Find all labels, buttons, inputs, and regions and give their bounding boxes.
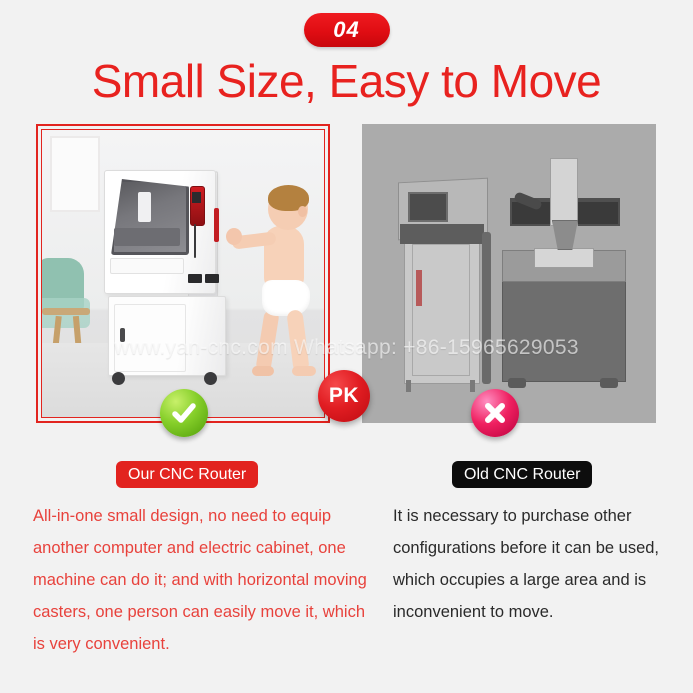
console-keypad <box>400 224 484 244</box>
mill-spindle-head <box>552 220 578 250</box>
left-product-photo <box>42 130 324 417</box>
machine-caster <box>112 372 125 385</box>
cable-conduit <box>482 232 491 384</box>
our-router-tag: Our CNC Router <box>116 461 258 488</box>
page-title: Small Size, Easy to Move <box>92 57 602 105</box>
versus-pk-badge: PK <box>318 370 370 422</box>
step-number-badge: 04 <box>304 13 390 47</box>
right-product-panel <box>362 124 656 423</box>
our-router-description: All-in-one small design, no need to equi… <box>33 500 373 660</box>
workpiece <box>534 248 594 268</box>
machine-red-accent-strip <box>214 208 219 242</box>
cross-icon <box>471 389 519 437</box>
cabinet-handle <box>120 328 125 342</box>
old-router-tag: Old CNC Router <box>452 461 592 488</box>
cabinet-foot <box>406 380 411 392</box>
mill-foot <box>600 378 618 388</box>
machine-vent <box>205 274 219 283</box>
machine-spindle <box>138 192 151 222</box>
cabinet-indicator-strip <box>416 270 422 306</box>
compact-cnc-router <box>104 170 228 392</box>
pendant-screen <box>192 192 201 203</box>
left-product-panel <box>36 124 330 423</box>
pendant-cord <box>194 224 196 258</box>
baby-front-foot <box>292 366 316 376</box>
baby-pushing-machine <box>238 188 324 378</box>
baby-diaper <box>262 280 310 316</box>
old-router-description: It is necessary to purchase other config… <box>393 500 673 628</box>
cabinet-door-old <box>412 244 470 376</box>
baby-back-foot <box>252 366 274 376</box>
baby-hand <box>226 228 242 245</box>
baby-back-leg <box>255 309 280 373</box>
machine-vent <box>188 274 202 283</box>
machine-drawer <box>110 258 184 274</box>
baby-front-leg <box>286 309 309 372</box>
right-photo-frame <box>362 124 656 423</box>
comparison-row: PK <box>0 124 693 429</box>
left-photo-frame <box>41 129 325 418</box>
machine-bed <box>114 228 180 246</box>
old-cnc-photo <box>362 124 656 423</box>
mill-panel-right <box>578 202 618 224</box>
baby-ear <box>298 206 307 217</box>
chair-crossbar <box>42 308 90 315</box>
check-icon <box>160 389 208 437</box>
console-screen <box>408 192 448 222</box>
mill-column <box>550 158 578 226</box>
mill-base <box>502 276 626 382</box>
caption-labels: Our CNC Router Old CNC Router <box>0 461 693 495</box>
machine-caster <box>204 372 217 385</box>
page-header: 04 Small Size, Easy to Move <box>0 0 693 105</box>
cabinet-foot <box>470 380 475 392</box>
mill-foot <box>508 378 526 388</box>
wall-picture-frame <box>50 136 100 212</box>
